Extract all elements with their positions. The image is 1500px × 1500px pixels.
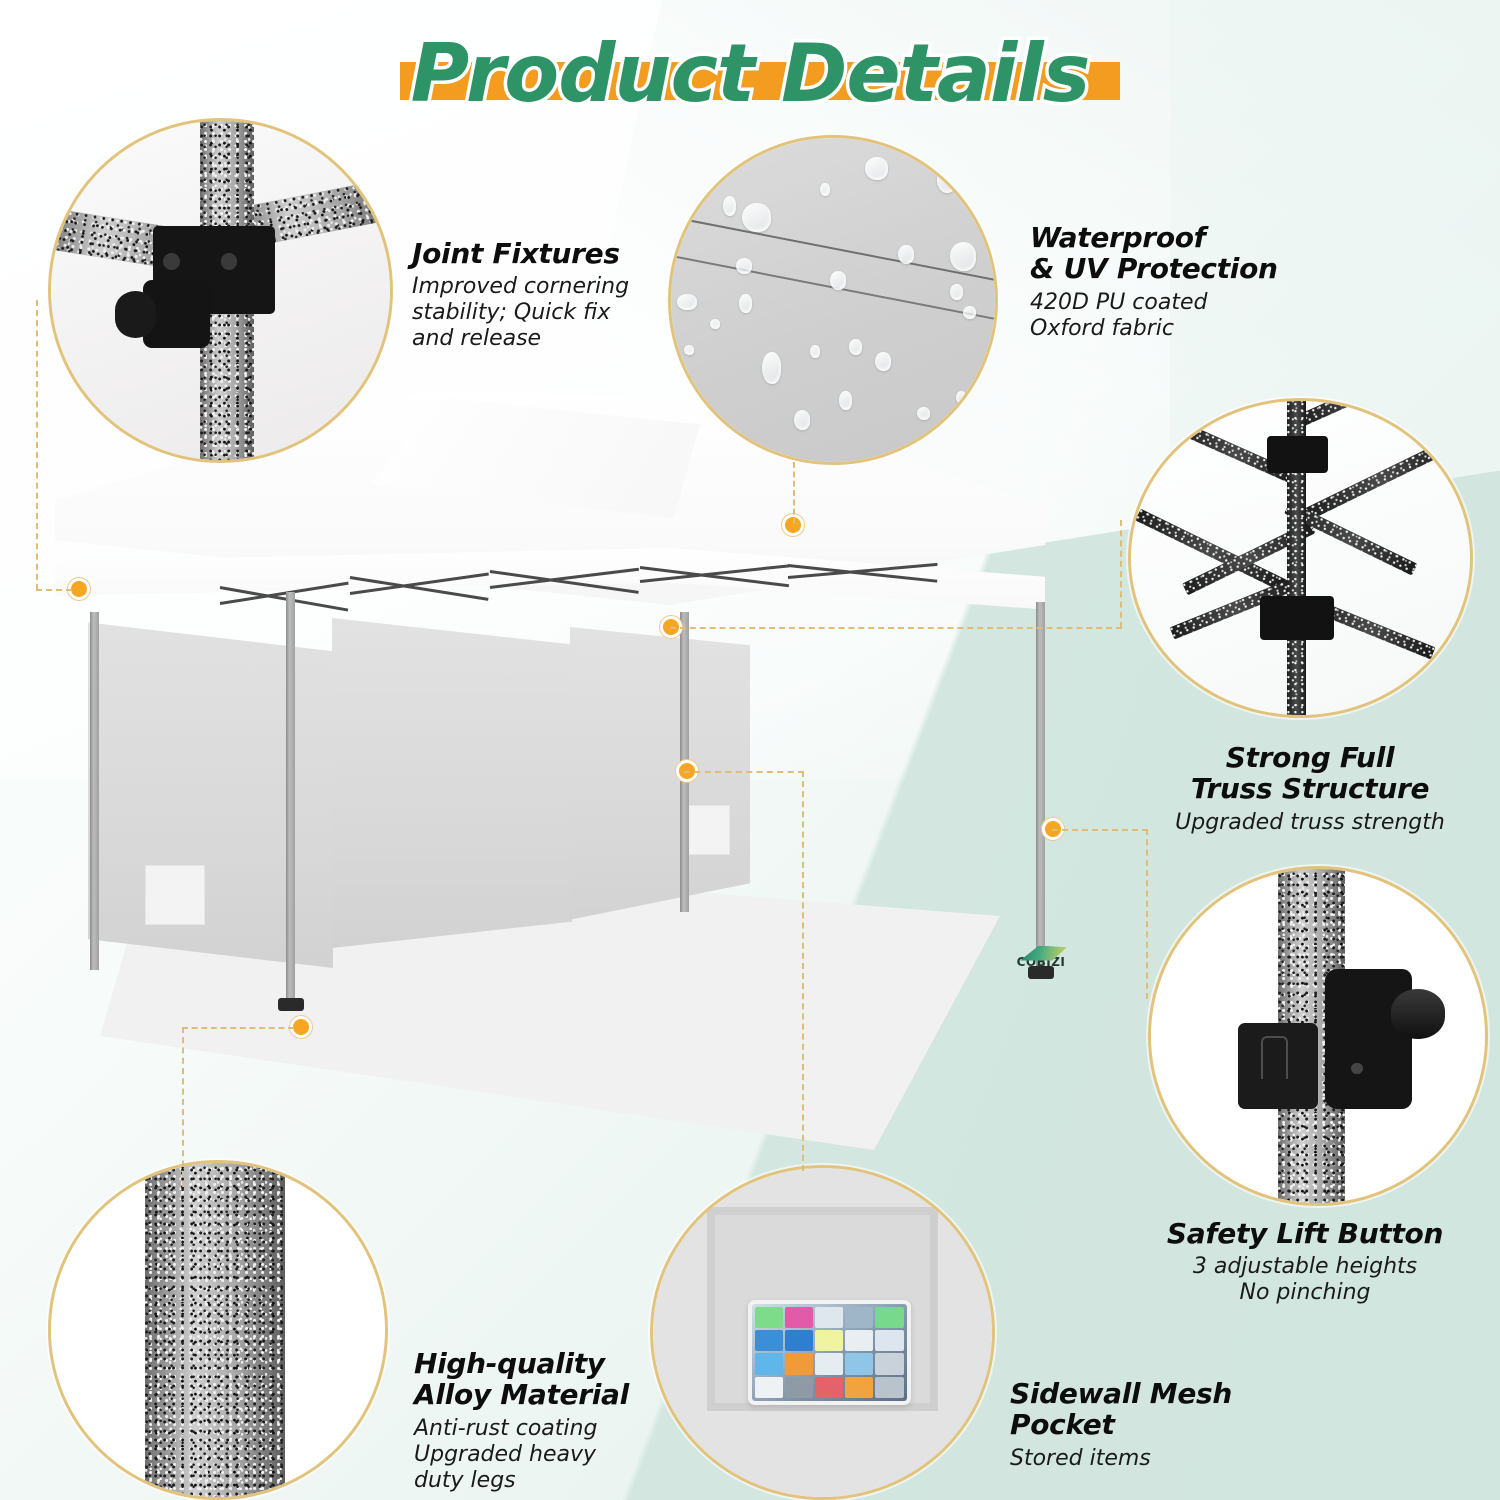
feature-title: High-quality — [414, 1348, 694, 1379]
tent-leg-rear-left — [90, 612, 99, 970]
feature-label-truss: Strong Full Truss Structure Upgraded tru… — [1160, 742, 1460, 836]
alloy-pole-photo — [51, 1163, 385, 1497]
connector-line — [182, 1027, 294, 1029]
sidewall-right — [570, 627, 750, 932]
callout-waterproof — [668, 135, 998, 465]
feature-desc-line: Improved cornering — [412, 274, 672, 300]
feature-title: Alloy Material — [414, 1379, 694, 1410]
feature-title: Safety Lift Button — [1150, 1218, 1460, 1249]
sidewall-middle — [332, 618, 572, 948]
page-title-wrap: Product Details — [0, 18, 1500, 128]
feature-desc-line: Oxford fabric — [1030, 316, 1330, 342]
feature-label-joint-fixtures: Joint Fixtures Improved cornering stabil… — [412, 238, 672, 352]
water-droplets-photo — [671, 138, 995, 462]
feature-desc-line: Stored items — [1010, 1446, 1310, 1472]
connector-line — [684, 771, 804, 773]
tent-leg-front-left — [286, 592, 295, 1002]
feature-title: Waterproof — [1030, 222, 1330, 253]
connector-line — [182, 1027, 184, 1187]
lift-button-photo — [1151, 869, 1485, 1203]
feature-desc-line: duty legs — [414, 1468, 694, 1494]
feature-desc-line: No pinching — [1150, 1280, 1460, 1306]
feature-title: Strong Full — [1160, 742, 1460, 773]
feature-desc-line: Upgraded truss strength — [1160, 810, 1460, 836]
canopy-tent-illustration: COBIZI — [40, 380, 1110, 1180]
feature-label-alloy: High-quality Alloy Material Anti-rust co… — [414, 1348, 694, 1494]
connector-line — [1146, 829, 1148, 999]
feature-desc-line: 420D PU coated — [1030, 290, 1330, 316]
sidewall-left — [88, 608, 333, 968]
callout-safety-lift-button — [1148, 866, 1488, 1206]
feature-title: & UV Protection — [1030, 253, 1330, 284]
feature-label-waterproof: Waterproof & UV Protection 420D PU coate… — [1030, 222, 1330, 342]
connector-line — [670, 627, 1122, 629]
feature-label-safety-lift: Safety Lift Button 3 adjustable heights … — [1150, 1218, 1460, 1306]
connector-line — [36, 300, 38, 590]
tent-leg-front-right — [1036, 602, 1045, 970]
connector-line — [802, 771, 804, 1171]
feature-title: Sidewall Mesh — [1010, 1378, 1310, 1409]
connector-line — [1120, 520, 1122, 628]
connector-line — [793, 462, 795, 524]
feature-desc-line: Anti-rust coating — [414, 1416, 694, 1442]
callout-joint-fixtures — [48, 118, 393, 463]
callout-mesh-pocket — [650, 1165, 995, 1500]
connector-line — [1052, 829, 1148, 831]
feature-desc-line: Upgraded heavy — [414, 1442, 694, 1468]
tablet-device — [748, 1300, 911, 1405]
feature-title: Truss Structure — [1160, 773, 1460, 804]
feature-desc-line: 3 adjustable heights — [1150, 1254, 1460, 1280]
brand-logo: COBIZI — [1005, 940, 1077, 974]
page-title: Product Details — [411, 27, 1090, 120]
feature-desc-line: and release — [412, 326, 672, 352]
joint-fixture-photo — [51, 121, 390, 460]
feature-title: Joint Fixtures — [412, 238, 672, 269]
tent-leg-foot — [278, 998, 304, 1011]
feature-desc-line: stability; Quick fix — [412, 300, 672, 326]
callout-alloy-material — [48, 1160, 388, 1500]
mesh-pocket-window-left — [145, 865, 205, 925]
feature-label-mesh-pocket: Sidewall Mesh Pocket Stored items — [1010, 1378, 1310, 1472]
connector-line — [36, 589, 72, 591]
product-details-infographic: Product Details COBIZI — [0, 0, 1500, 1500]
tablet-screen — [752, 1304, 907, 1401]
feature-title: Pocket — [1010, 1409, 1310, 1440]
truss-frame-photo — [1131, 401, 1470, 715]
mesh-pocket-photo — [653, 1168, 992, 1497]
callout-truss-structure — [1128, 398, 1473, 718]
